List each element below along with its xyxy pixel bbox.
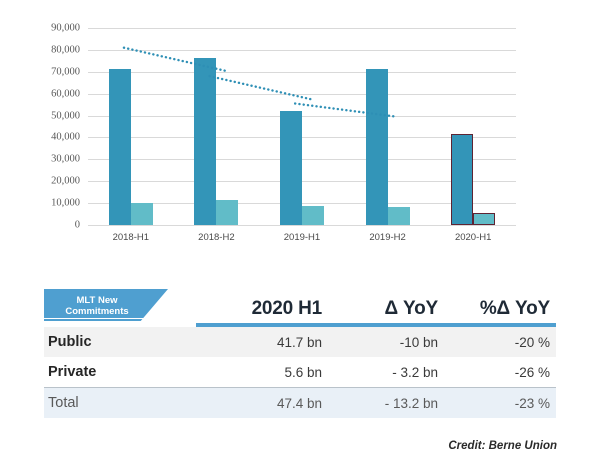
chart-panel: 010,00020,00030,00040,00050,00060,00070,… bbox=[0, 0, 603, 255]
y-axis-tick-label: 40,000 bbox=[10, 132, 80, 143]
table-body: Public41.7 bn-10 bn-20 %Private5.6 bn- 3… bbox=[44, 327, 556, 418]
column-header-2020h1: 2020 H1 bbox=[196, 278, 328, 323]
row-value-delta-yoy: - 13.2 bn bbox=[328, 388, 444, 419]
y-axis-tick-label: 30,000 bbox=[10, 154, 80, 165]
trend-segment bbox=[124, 48, 225, 71]
table-header-row: MLT New Commitments 2020 H1 Δ YoY %Δ YoY bbox=[44, 278, 556, 323]
y-axis-tick-label: 10,000 bbox=[10, 198, 80, 209]
y-axis-tick-label: 70,000 bbox=[10, 66, 80, 77]
table-row: Private5.6 bn- 3.2 bn-26 % bbox=[44, 357, 556, 388]
row-label: Total bbox=[44, 388, 196, 419]
row-value-2020h1: 47.4 bn bbox=[196, 388, 328, 419]
x-axis-tick-label: 2018-H1 bbox=[88, 232, 174, 243]
credit-line: Credit: Berne Union bbox=[448, 440, 557, 452]
chart-trend-line bbox=[88, 28, 516, 225]
row-value-delta-yoy: - 3.2 bn bbox=[328, 357, 444, 388]
row-value-pct-delta-yoy: -20 % bbox=[444, 327, 556, 357]
table-title-line2: Commitments bbox=[65, 306, 128, 317]
row-value-delta-yoy: -10 bn bbox=[328, 327, 444, 357]
y-axis-tick-label: 50,000 bbox=[10, 110, 80, 121]
y-axis-tick-label: 90,000 bbox=[10, 23, 80, 34]
x-axis-tick-label: 2020-H1 bbox=[430, 232, 516, 243]
row-value-pct-delta-yoy: -23 % bbox=[444, 388, 556, 419]
x-axis-tick-label: 2019-H1 bbox=[259, 232, 345, 243]
gridline bbox=[88, 225, 516, 226]
column-header-pct-delta-yoy: %Δ YoY bbox=[444, 278, 556, 323]
table-head: MLT New Commitments 2020 H1 Δ YoY %Δ YoY bbox=[44, 278, 556, 327]
row-value-2020h1: 41.7 bn bbox=[196, 327, 328, 357]
summary-table: MLT New Commitments 2020 H1 Δ YoY %Δ YoY… bbox=[44, 278, 556, 418]
y-axis-tick-label: 60,000 bbox=[10, 88, 80, 99]
column-header-delta-yoy: Δ YoY bbox=[328, 278, 444, 323]
table-row: Total47.4 bn- 13.2 bn-23 % bbox=[44, 388, 556, 419]
summary-table-panel: MLT New Commitments 2020 H1 Δ YoY %Δ YoY… bbox=[0, 278, 603, 428]
row-label: Public bbox=[44, 327, 196, 357]
y-axis-tick-label: 0 bbox=[10, 220, 80, 231]
x-axis-tick-label: 2019-H2 bbox=[345, 232, 431, 243]
row-value-pct-delta-yoy: -26 % bbox=[444, 357, 556, 388]
trend-segment bbox=[295, 104, 396, 117]
y-axis-tick-label: 80,000 bbox=[10, 44, 80, 55]
row-label: Private bbox=[44, 357, 196, 388]
x-axis-tick-label: 2018-H2 bbox=[174, 232, 260, 243]
table-row: Public41.7 bn-10 bn-20 % bbox=[44, 327, 556, 357]
y-axis-tick-label: 20,000 bbox=[10, 176, 80, 187]
table-title-tag: MLT New Commitments bbox=[44, 278, 196, 323]
table-title-line1: MLT New bbox=[77, 295, 118, 306]
table-title-tag-text: MLT New Commitments bbox=[44, 295, 150, 319]
row-value-2020h1: 5.6 bn bbox=[196, 357, 328, 388]
trend-segment bbox=[210, 76, 311, 99]
